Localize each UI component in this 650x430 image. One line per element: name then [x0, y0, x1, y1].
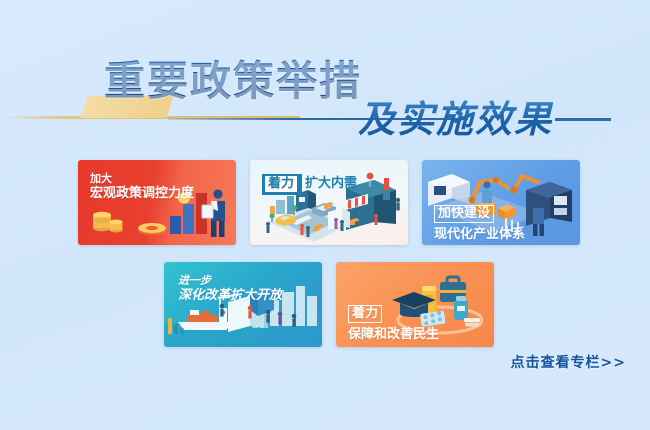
isometric-city-commerce-illustration [250, 160, 408, 245]
card-reform-opening[interactable]: 进一步 深化改革扩大开放 [164, 262, 322, 347]
card5-title-line1-wrap: 着力 [348, 302, 439, 323]
card3-title-line2: 现代化产业体系 [434, 227, 525, 244]
card3-title-line1: 加快建设 [434, 205, 494, 223]
card-reform-opening-label: 进一步 深化改革扩大开放 [178, 274, 282, 305]
card4-title-line1: 进一步 [178, 274, 282, 288]
card-expand-demand-label: 着力 扩大内需 [262, 174, 357, 195]
card-peoples-livelihood-label: 着力 保障和改善民生 [348, 302, 439, 344]
card-peoples-livelihood[interactable]: 着力 保障和改善民生 [336, 262, 494, 347]
blue-dash-accent [555, 118, 611, 121]
card1-title-line1: 加大 [90, 172, 194, 186]
card1-title-line2: 宏观政策调控力度 [90, 186, 194, 203]
card-modern-industry[interactable]: 加快建设 现代化产业体系 [422, 160, 580, 245]
card2-title-boxed: 着力 [262, 174, 302, 195]
card2-title-line2: 扩大内需 [305, 176, 357, 193]
policy-banner: 重要政策举措 及实施效果 [0, 0, 650, 430]
card3-title-line1-wrap: 加快建设 [434, 202, 525, 223]
card5-title-line2: 保障和改善民生 [348, 327, 439, 344]
card4-title-line2: 深化改革扩大开放 [178, 288, 282, 305]
page-title-line1: 重要政策举措 [104, 58, 362, 104]
card-macro-policy[interactable]: 加大 宏观政策调控力度 [78, 160, 236, 245]
card-expand-demand[interactable]: 着力 扩大内需 [250, 160, 408, 245]
view-column-link[interactable]: 点击查看专栏>> [511, 352, 626, 372]
banner-title-block: 重要政策举措 及实施效果 [0, 58, 650, 153]
card5-title-line1: 着力 [348, 305, 382, 323]
card-macro-policy-label: 加大 宏观政策调控力度 [90, 172, 194, 203]
card2-title-line1: 着力 [265, 176, 297, 192]
page-title-line2: 及实施效果 [358, 98, 553, 142]
card-modern-industry-label: 加快建设 现代化产业体系 [434, 202, 525, 244]
